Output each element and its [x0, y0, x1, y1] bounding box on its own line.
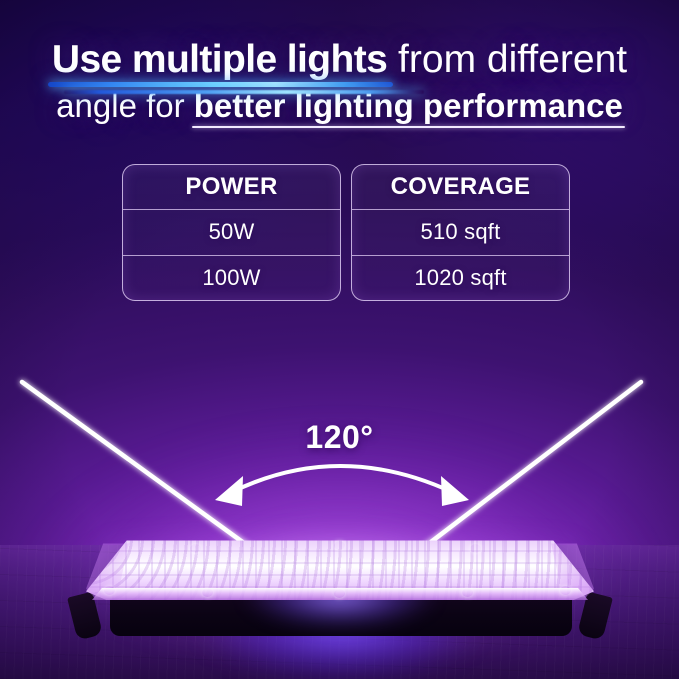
angle-arc	[232, 466, 452, 492]
fixture-screw	[334, 589, 345, 598]
fixture-screw	[462, 588, 473, 597]
fixture-screw	[202, 588, 213, 597]
angle-arrow-left-icon	[215, 476, 243, 506]
beam-angle-label: 120°	[0, 419, 679, 456]
fixture-screw	[470, 544, 481, 553]
headline-underline-streak	[64, 90, 424, 94]
led-flood-light-fixture	[62, 528, 618, 648]
fixture-screw	[104, 586, 115, 595]
angle-arrow-right-icon	[441, 476, 469, 506]
fixture-screw	[560, 586, 571, 595]
fixture-screw	[334, 541, 345, 550]
product-feature-image: Use multiple lights from different angle…	[0, 0, 679, 679]
fixture-screw	[190, 544, 201, 553]
